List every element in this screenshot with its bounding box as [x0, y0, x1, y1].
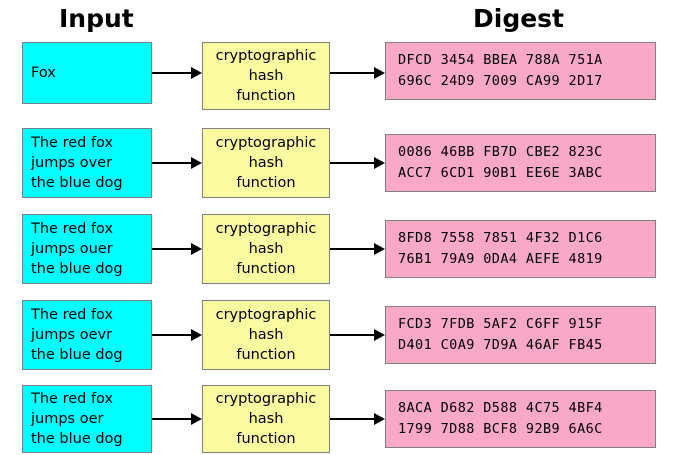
- hash-label-line: cryptographic: [203, 389, 329, 409]
- digest-line: 0086 46BB FB7D CBE2 823C: [398, 142, 643, 163]
- arrow-shaft: [330, 162, 374, 164]
- arrow-head-icon: [191, 243, 202, 255]
- arrow-hash-to-digest: [330, 67, 385, 79]
- arrow-input-to-hash: [152, 243, 202, 255]
- arrow-input-to-hash: [152, 329, 202, 341]
- hash-function-box: cryptographic hash function: [202, 385, 330, 453]
- digest-box: FCD3 7FDB 5AF2 C6FF 915F D401 C0A9 7D9A …: [385, 306, 656, 364]
- input-line: jumps over: [31, 153, 143, 173]
- hash-function-box: cryptographic hash function: [202, 300, 330, 370]
- hash-label-line: cryptographic: [203, 305, 329, 325]
- input-box: The red fox jumps ouer the blue dog: [22, 214, 152, 284]
- hash-label-line: cryptographic: [203, 219, 329, 239]
- arrow-shaft: [152, 72, 191, 74]
- column-heading-digest: Digest: [473, 4, 564, 33]
- digest-line: D401 C0A9 7D9A 46AF FB45: [398, 335, 643, 356]
- hash-function-box: cryptographic hash function: [202, 214, 330, 284]
- arrow-shaft: [152, 418, 191, 420]
- arrow-shaft: [330, 72, 374, 74]
- diagram-row: The red fox jumps oevr the blue dog cryp…: [0, 300, 680, 370]
- arrow-head-icon: [191, 329, 202, 341]
- digest-line: DFCD 3454 BBEA 788A 751A: [398, 50, 643, 71]
- arrow-shaft: [152, 248, 191, 250]
- hash-label-line: cryptographic: [203, 46, 329, 66]
- input-line: The red fox: [31, 389, 143, 409]
- arrow-input-to-hash: [152, 413, 202, 425]
- diagram-row: Fox cryptographic hash function DFCD 345…: [0, 42, 680, 104]
- hash-label-line: function: [203, 345, 329, 365]
- arrow-head-icon: [374, 329, 385, 341]
- input-box: Fox: [22, 42, 152, 104]
- input-line: the blue dog: [31, 259, 143, 279]
- input-box: The red fox jumps oevr the blue dog: [22, 300, 152, 370]
- hash-label-line: function: [203, 429, 329, 449]
- input-box: The red fox jumps over the blue dog: [22, 128, 152, 198]
- digest-box: DFCD 3454 BBEA 788A 751A 696C 24D9 7009 …: [385, 42, 656, 100]
- hash-label-line: hash: [203, 239, 329, 259]
- digest-line: FCD3 7FDB 5AF2 C6FF 915F: [398, 314, 643, 335]
- input-line: the blue dog: [31, 429, 143, 449]
- input-line: The red fox: [31, 133, 143, 153]
- hash-function-diagram: Input Digest Fox cryptographic hash func…: [0, 0, 680, 455]
- digest-box: 8ACA D682 D588 4C75 4BF4 1799 7D88 BCF8 …: [385, 390, 656, 448]
- arrow-hash-to-digest: [330, 413, 385, 425]
- digest-line: 76B1 79A9 0DA4 AEFE 4819: [398, 249, 643, 270]
- column-heading-input: Input: [59, 4, 134, 33]
- arrow-shaft: [152, 162, 191, 164]
- hash-function-box: cryptographic hash function: [202, 42, 330, 110]
- input-line: the blue dog: [31, 345, 143, 365]
- digest-line: 8ACA D682 D588 4C75 4BF4: [398, 398, 643, 419]
- input-line: the blue dog: [31, 173, 143, 193]
- input-line: jumps ouer: [31, 239, 143, 259]
- arrow-input-to-hash: [152, 157, 202, 169]
- diagram-row: The red fox jumps ouer the blue dog cryp…: [0, 214, 680, 284]
- arrow-hash-to-digest: [330, 243, 385, 255]
- hash-label-line: cryptographic: [203, 133, 329, 153]
- arrow-hash-to-digest: [330, 329, 385, 341]
- hash-label-line: function: [203, 173, 329, 193]
- digest-box: 8FD8 7558 7851 4F32 D1C6 76B1 79A9 0DA4 …: [385, 220, 656, 278]
- hash-label-line: function: [203, 86, 329, 106]
- arrow-head-icon: [191, 413, 202, 425]
- digest-line: ACC7 6CD1 90B1 EE6E 3ABC: [398, 163, 643, 184]
- arrow-head-icon: [374, 67, 385, 79]
- arrow-head-icon: [374, 243, 385, 255]
- digest-line: 8FD8 7558 7851 4F32 D1C6: [398, 228, 643, 249]
- arrow-head-icon: [191, 67, 202, 79]
- hash-label-line: hash: [203, 409, 329, 429]
- arrow-shaft: [152, 334, 191, 336]
- arrow-input-to-hash: [152, 67, 202, 79]
- hash-label-line: hash: [203, 66, 329, 86]
- input-line: jumps oevr: [31, 325, 143, 345]
- hash-label-line: function: [203, 259, 329, 279]
- input-line: Fox: [31, 63, 143, 83]
- arrow-head-icon: [374, 157, 385, 169]
- input-line: The red fox: [31, 219, 143, 239]
- arrow-shaft: [330, 248, 374, 250]
- arrow-shaft: [330, 418, 374, 420]
- arrow-head-icon: [374, 413, 385, 425]
- digest-box: 0086 46BB FB7D CBE2 823C ACC7 6CD1 90B1 …: [385, 134, 656, 192]
- hash-label-line: hash: [203, 153, 329, 173]
- input-box: The red fox jumps oer the blue dog: [22, 385, 152, 453]
- hash-function-box: cryptographic hash function: [202, 128, 330, 198]
- hash-label-line: hash: [203, 325, 329, 345]
- arrow-head-icon: [191, 157, 202, 169]
- arrow-shaft: [330, 334, 374, 336]
- arrow-hash-to-digest: [330, 157, 385, 169]
- digest-line: 1799 7D88 BCF8 92B9 6A6C: [398, 419, 643, 440]
- diagram-row: The red fox jumps over the blue dog cryp…: [0, 128, 680, 198]
- digest-line: 696C 24D9 7009 CA99 2D17: [398, 71, 643, 92]
- diagram-row: The red fox jumps oer the blue dog crypt…: [0, 385, 680, 455]
- input-line: jumps oer: [31, 409, 143, 429]
- input-line: The red fox: [31, 305, 143, 325]
